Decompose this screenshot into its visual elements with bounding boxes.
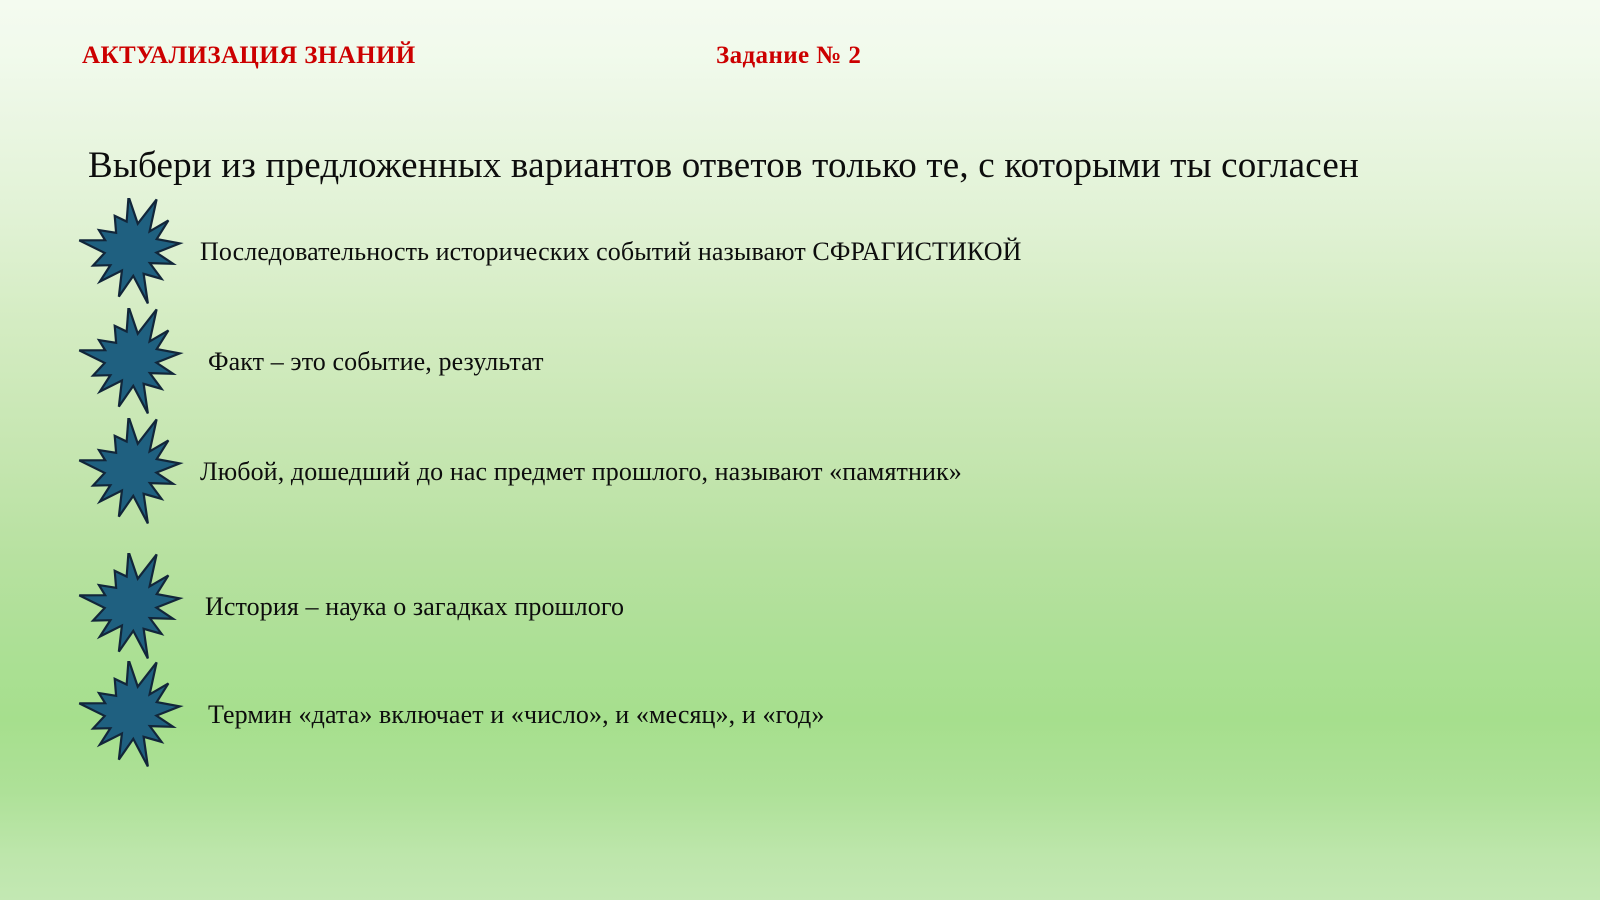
task-number-title: Задание № 2 [716,40,861,72]
section-title: АКТУАЛИЗАЦИЯ ЗНАНИЙ [82,40,416,72]
statement-label: Последовательность исторических событий … [200,236,1021,268]
instruction-text: Выбери из предложенных вариантов ответов… [88,143,1568,189]
statement-label: Любой, дошедший до нас предмет прошлого,… [200,456,962,488]
slide-canvas: АКТУАЛИЗАЦИЯ ЗНАНИЙ Задание № 2 Выбери и… [0,0,1600,900]
burst-star-icon[interactable] [76,553,188,661]
statement-label: Факт – это событие, результат [208,346,544,378]
statement-row[interactable]: Факт – это событие, результат [0,308,1600,416]
statement-label: Термин «дата» включает и «число», и «мес… [208,699,824,731]
burst-star-icon[interactable] [76,308,188,416]
slide-header: АКТУАЛИЗАЦИЯ ЗНАНИЙ Задание № 2 [0,40,1600,80]
statement-row[interactable]: История – наука о загадках прошлого [0,553,1600,661]
burst-star-icon[interactable] [76,198,188,306]
burst-star-icon[interactable] [76,418,188,526]
statement-row[interactable]: Последовательность исторических событий … [0,198,1600,306]
statement-row[interactable]: Любой, дошедший до нас предмет прошлого,… [0,418,1600,526]
statement-row[interactable]: Термин «дата» включает и «число», и «мес… [0,661,1600,769]
statement-label: История – наука о загадках прошлого [205,591,624,623]
burst-star-icon[interactable] [76,661,188,769]
